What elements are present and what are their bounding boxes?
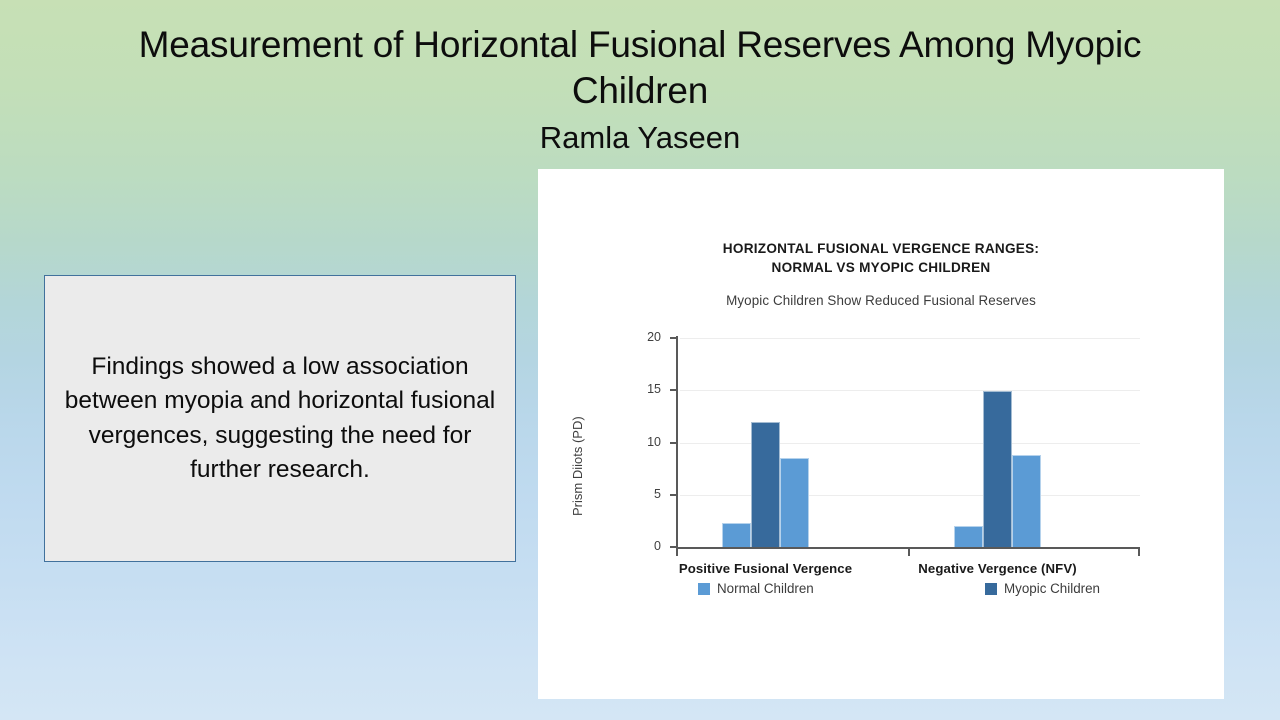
bar xyxy=(722,523,751,547)
bar xyxy=(954,526,983,547)
gridline xyxy=(680,495,1140,496)
legend-swatch-icon xyxy=(698,583,710,595)
plot-area: 05101520 xyxy=(676,338,1140,547)
gridline xyxy=(680,443,1140,444)
y-axis-tick-label: 15 xyxy=(647,382,661,396)
chart-title-line-1: HORIZONTAL FUSIONAL VERGENCE RANGES: xyxy=(538,240,1224,259)
legend-item: Myopic Children xyxy=(985,581,1100,596)
gridline xyxy=(680,338,1140,339)
author-name: Ramla Yaseen xyxy=(96,118,1184,158)
y-axis-tick: 10 xyxy=(670,442,677,444)
chart-title: HORIZONTAL FUSIONAL VERGENCE RANGES: NOR… xyxy=(538,240,1224,277)
findings-textbox: Findings showed a low association betwee… xyxy=(44,275,516,562)
x-axis-category-label: Negative Vergence (NFV) xyxy=(878,561,1118,576)
legend-item: Normal Children xyxy=(698,581,814,596)
y-axis-tick-label: 5 xyxy=(654,487,661,501)
x-axis-category-label: Positive Fusional Vergence xyxy=(646,561,886,576)
findings-text: Findings showed a low association betwee… xyxy=(45,350,515,488)
slide: Measurement of Horizontal Fusional Reser… xyxy=(0,0,1280,720)
y-axis-tick-label: 20 xyxy=(647,330,661,344)
legend-label: Normal Children xyxy=(717,581,814,596)
bar xyxy=(1012,455,1041,547)
chart-title-line-2: NORMAL VS MYOPIC CHILDREN xyxy=(538,259,1224,278)
gridline xyxy=(680,390,1140,391)
x-axis-tick xyxy=(676,547,678,556)
chart-panel: HORIZONTAL FUSIONAL VERGENCE RANGES: NOR… xyxy=(538,169,1224,699)
y-axis-tick-label: 10 xyxy=(647,435,661,449)
y-axis-tick: 15 xyxy=(670,389,677,391)
chart-legend: Normal ChildrenMyopic Children xyxy=(538,581,1224,603)
bar xyxy=(780,458,809,547)
bar xyxy=(983,391,1012,547)
title-block: Measurement of Horizontal Fusional Reser… xyxy=(96,22,1184,158)
legend-swatch-icon xyxy=(985,583,997,595)
y-axis-tick: 5 xyxy=(670,494,677,496)
x-axis-tick xyxy=(1138,547,1140,556)
y-axis-tick: 20 xyxy=(670,337,677,339)
chart-subtitle: Myopic Children Show Reduced Fusional Re… xyxy=(538,293,1224,308)
x-axis-tick xyxy=(908,547,910,556)
y-axis-tick-label: 0 xyxy=(654,539,661,553)
bar xyxy=(751,422,780,547)
y-axis-title-label: Prism Diiots (PD) xyxy=(570,498,585,516)
legend-label: Myopic Children xyxy=(1004,581,1100,596)
page-title: Measurement of Horizontal Fusional Reser… xyxy=(96,22,1184,114)
